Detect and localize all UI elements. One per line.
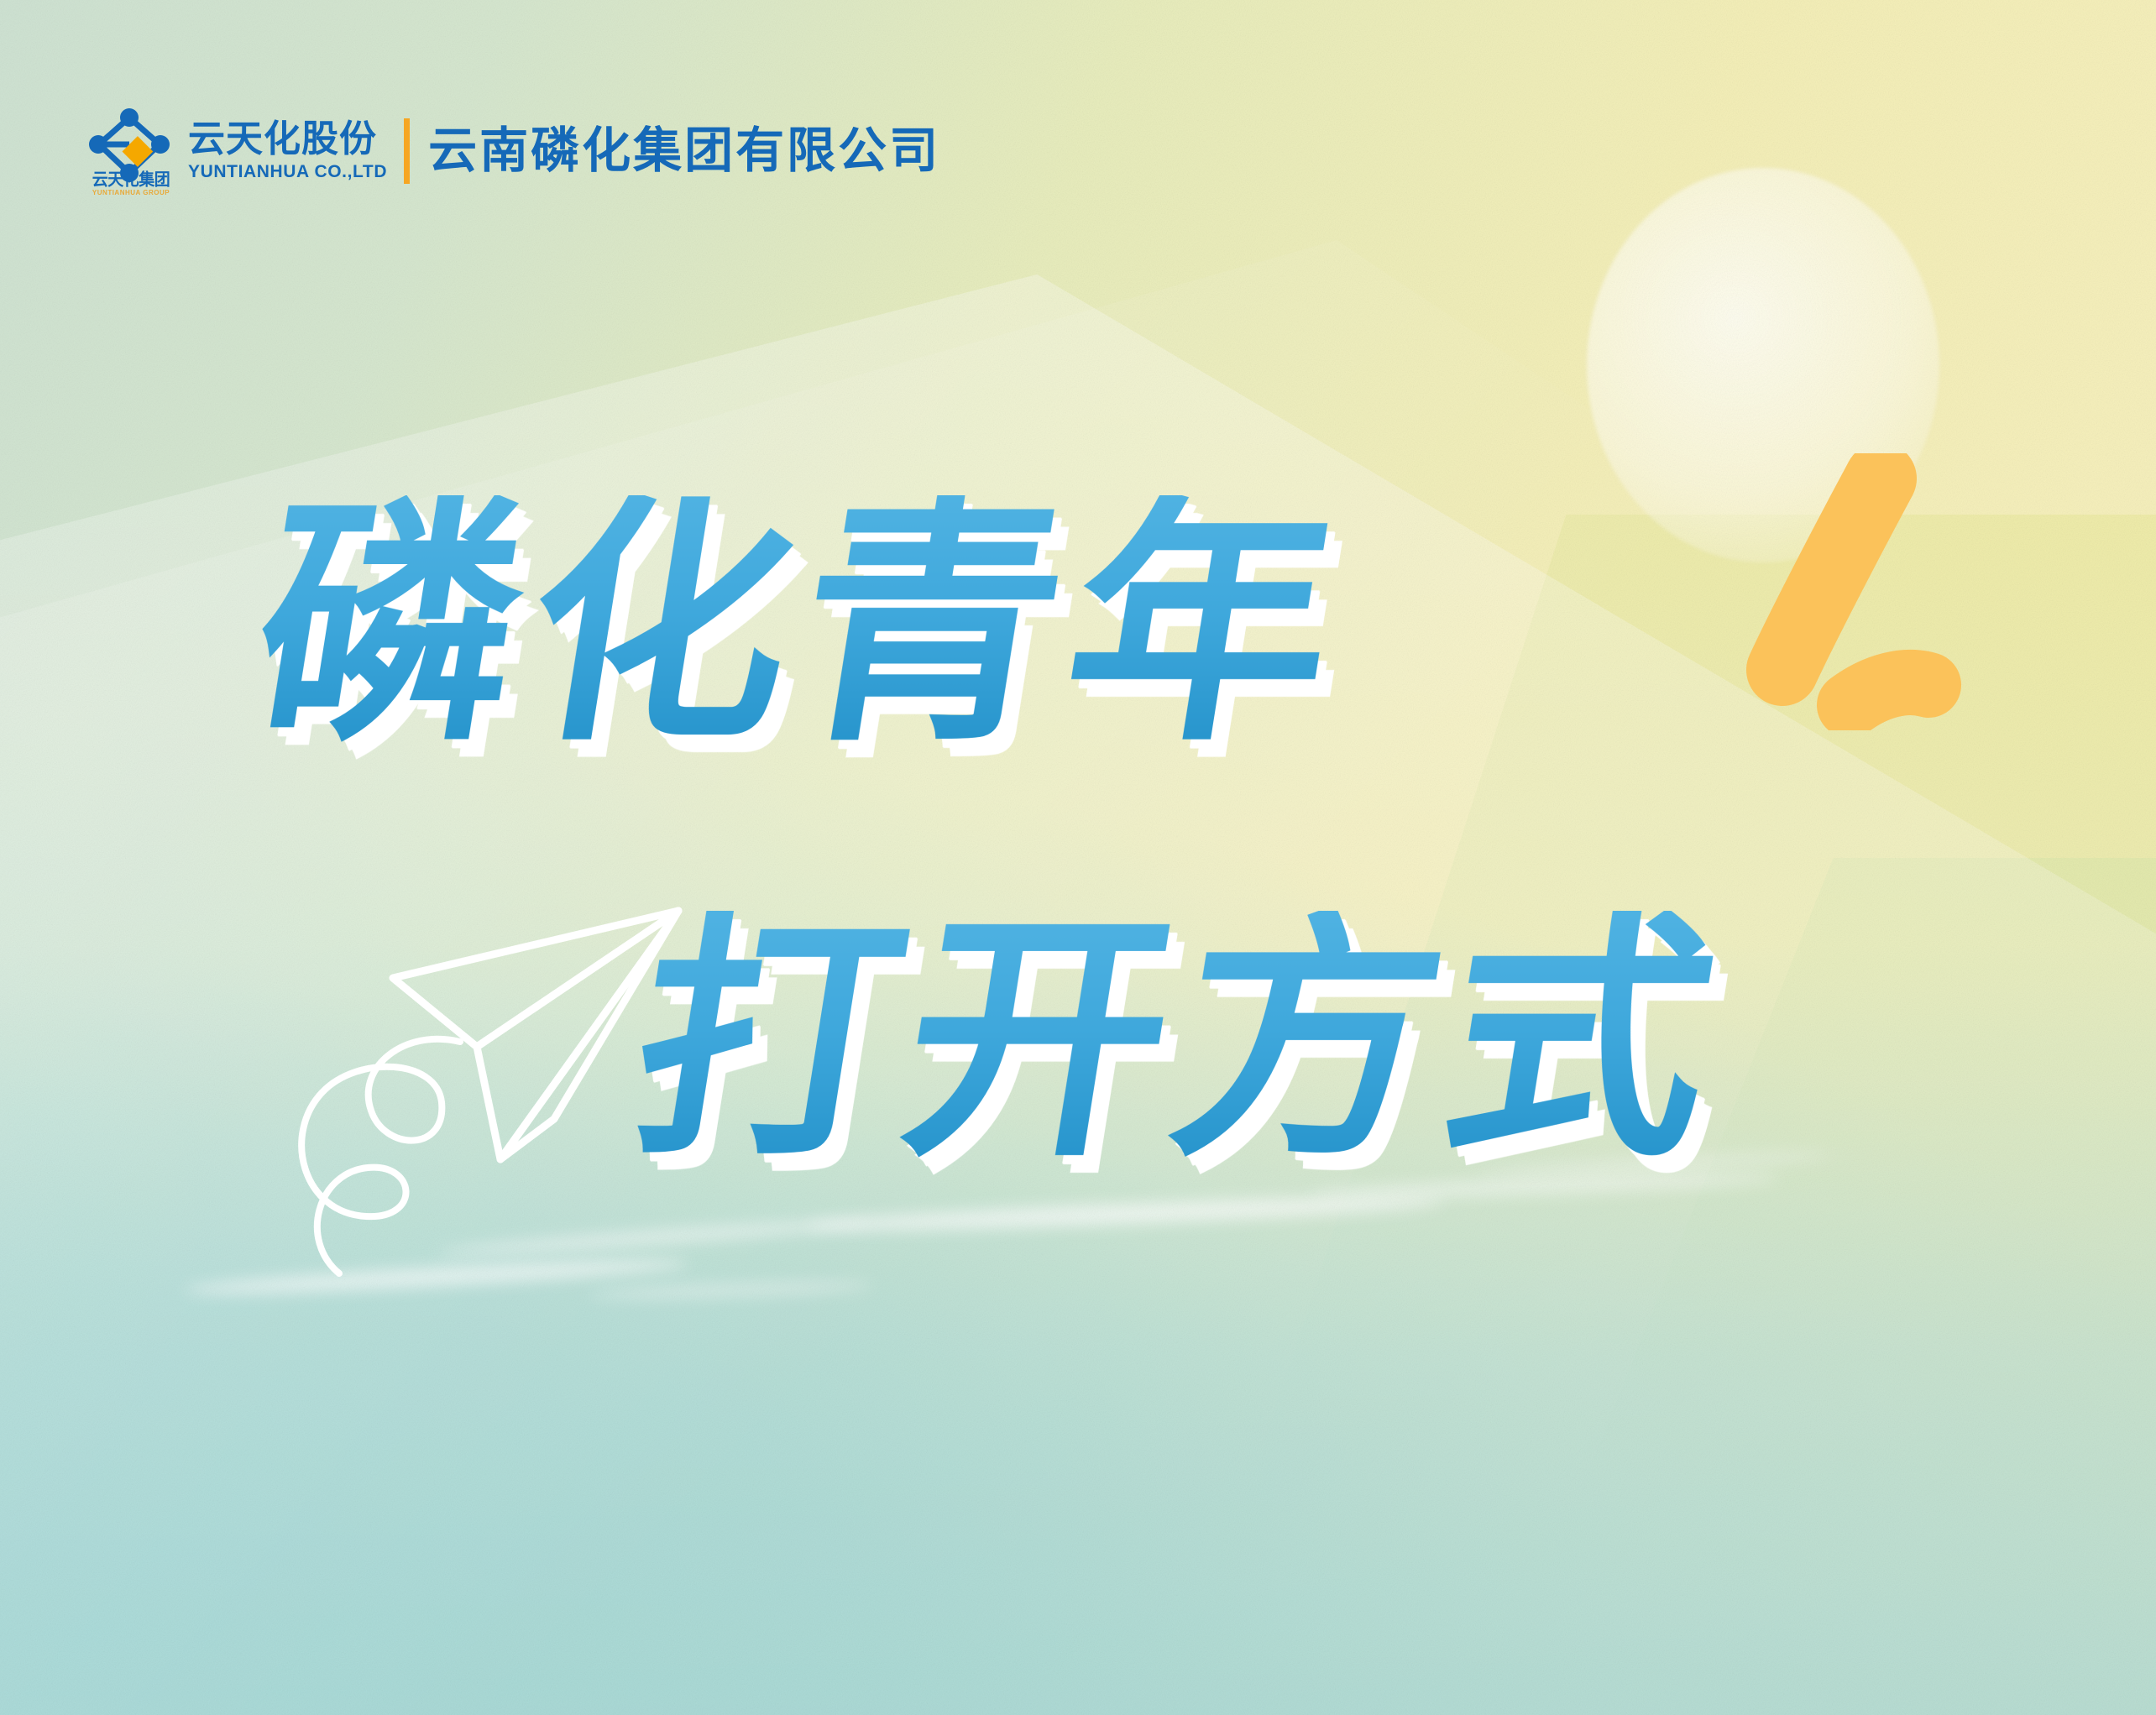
logo-group-badge: 云天化集团 YUNTIANHUA GROUP [91, 172, 171, 196]
poster-canvas: 云天化集团 YUNTIANHUA GROUP 云天化股份 YUNTIANHUA … [0, 0, 2156, 1715]
logo-separator-bar [404, 118, 410, 184]
logo-wordmark-cn: 云天化股份 [188, 121, 387, 158]
company-name: 云南磷化集团有限公司 [428, 127, 940, 175]
paper-plane-group [252, 894, 688, 1293]
yuntianhua-diamond-mark-icon: 云天化集团 YUNTIANHUA GROUP [84, 107, 175, 195]
logo-wordmark-en: YUNTIANHUA CO.,LTD [188, 162, 387, 182]
logo-badge-en: YUNTIANHUA GROUP [91, 190, 171, 196]
logo-badge-cn: 云天化集团 [91, 172, 171, 189]
header-logo-lockup: 云天化集团 YUNTIANHUA GROUP 云天化股份 YUNTIANHUA … [84, 107, 940, 195]
orange-swoosh-icon [1725, 453, 1977, 735]
logo-wordmark: 云天化股份 YUNTIANHUA CO.,LTD [188, 121, 387, 182]
spiral-trail-icon [301, 1039, 460, 1273]
